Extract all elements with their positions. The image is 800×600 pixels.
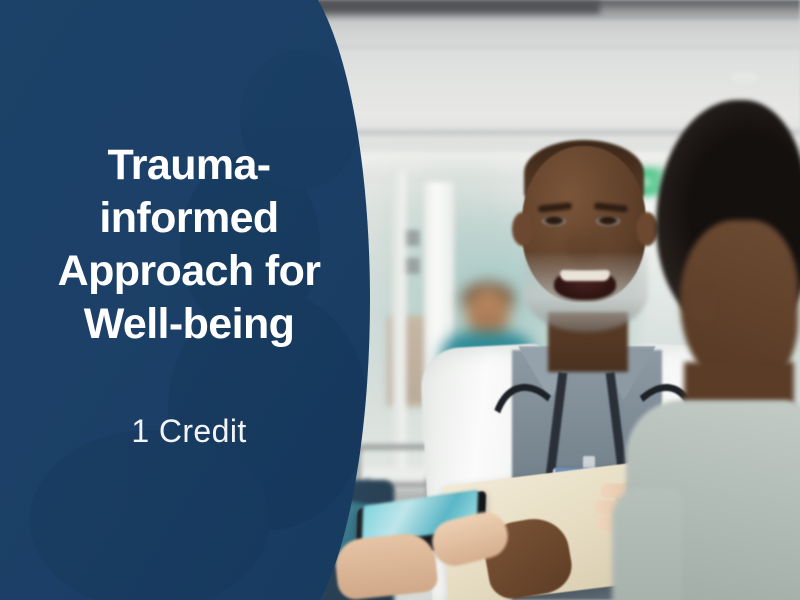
colleague-figure [640, 100, 800, 600]
course-card: Trauma-informedApproach forWell-being 1 … [0, 0, 800, 600]
smoke-detector-icon [731, 72, 757, 84]
ear [690, 286, 716, 324]
eye [542, 216, 566, 226]
arm [612, 488, 682, 600]
title-line-1: Trauma- [107, 141, 270, 189]
title-line-3: Approach for [58, 247, 321, 295]
title-line-2: informed [99, 194, 278, 242]
eye [596, 216, 620, 226]
title-line-4: Well-being [84, 300, 295, 348]
teeth [560, 270, 610, 281]
credit-label: 1 Credit [39, 413, 339, 450]
ear [512, 212, 534, 246]
card-text-block: Trauma-informedApproach forWell-being 1 … [0, 0, 370, 600]
page-title: Trauma-informedApproach forWell-being [39, 139, 339, 351]
